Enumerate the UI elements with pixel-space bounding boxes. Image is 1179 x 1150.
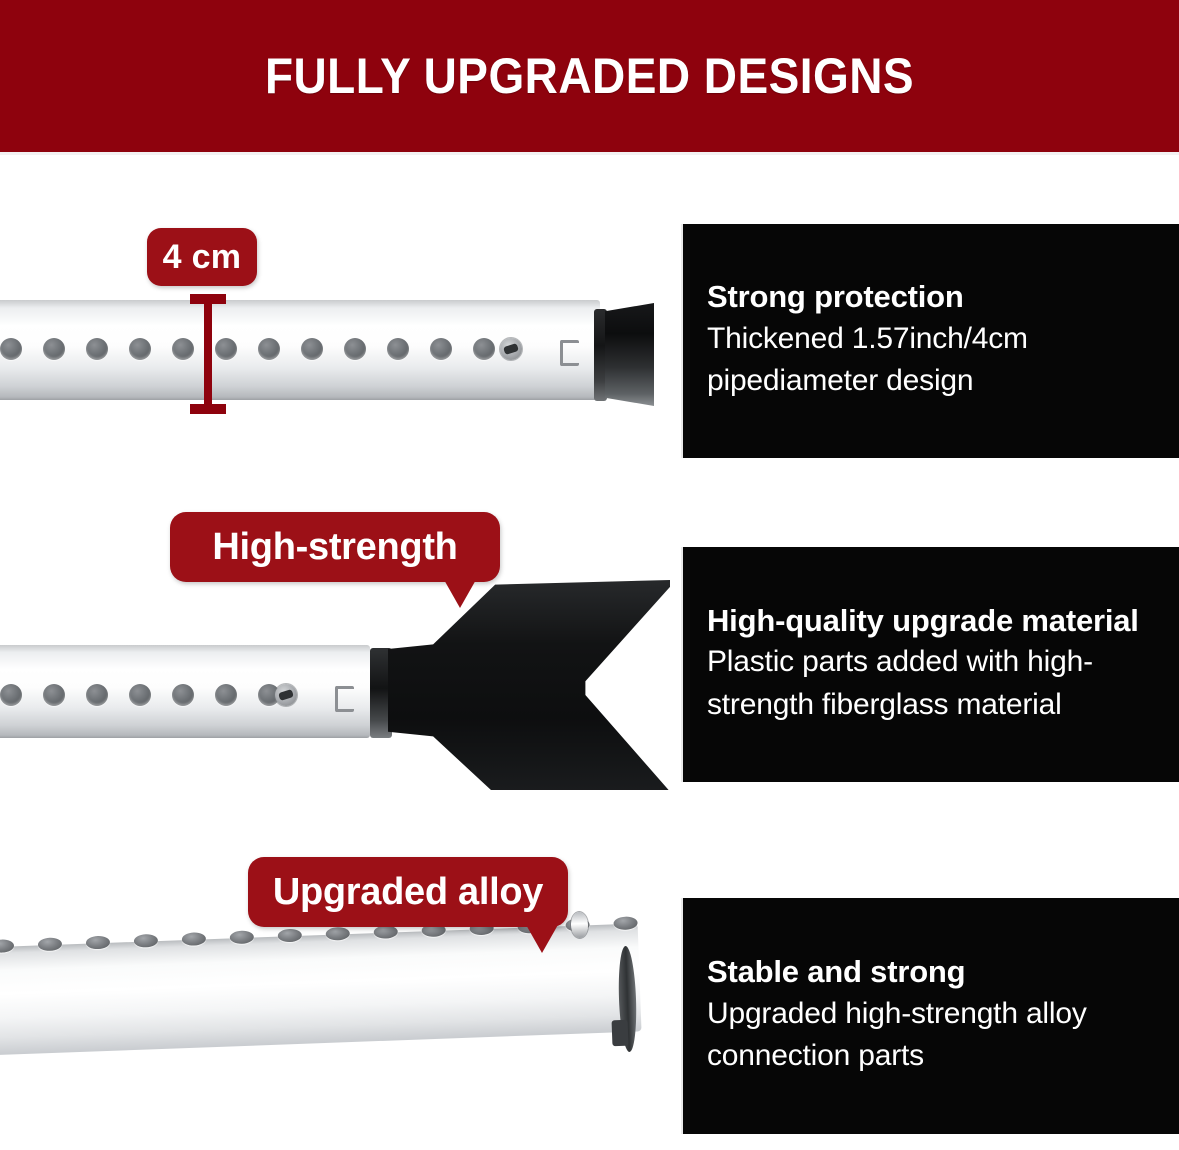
pipe-hole-icon [230, 930, 254, 944]
pipe-black-end-cap [594, 303, 654, 406]
header-divider [0, 152, 1179, 155]
pipe-hole-icon [0, 684, 22, 706]
pipe-hole-icon [215, 684, 237, 706]
pipe-hole-icon [301, 338, 323, 360]
pipe-screw-icon [500, 338, 522, 360]
pipe-hole-row [0, 684, 301, 706]
pipe-hole-icon [278, 929, 302, 943]
pipe-c-bracket-mark [335, 686, 354, 712]
pipe-hole-row [0, 338, 516, 360]
callout-badge-upgraded-alloy: Upgraded alloy [248, 857, 568, 927]
pipe-hole-icon [344, 338, 366, 360]
callout-badge-high-strength: High-strength [170, 512, 500, 582]
diameter-measurement-marker [190, 294, 226, 414]
end-cap-flare [605, 303, 654, 406]
feature-description: Upgraded high-strength alloy connection … [707, 993, 1153, 1078]
pipe-hole-icon [387, 338, 409, 360]
pipe-hole-icon [86, 338, 108, 360]
feature-panel-high-quality-material: High-quality upgrade material Plastic pa… [683, 547, 1179, 782]
pipe-forked-head [370, 580, 670, 740]
pipe-hole-icon [0, 939, 14, 953]
pipe-hole-icon [86, 684, 108, 706]
feature-title: High-quality upgrade material [707, 603, 1153, 640]
pipe-hole-icon [0, 338, 22, 360]
pipe-hole-icon [613, 916, 637, 930]
pipe-hole-icon [172, 684, 194, 706]
product-image-stable-and-strong [0, 900, 670, 1140]
pipe-hole-icon [473, 338, 495, 360]
pipe-screw-icon [275, 684, 297, 706]
feature-panel-strong-protection: Strong protection Thickened 1.57inch/4cm… [683, 224, 1179, 458]
feature-title: Stable and strong [707, 954, 1153, 991]
pipe-hole-icon [129, 338, 151, 360]
pipe-hole-icon [134, 934, 158, 948]
feature-description: Thickened 1.57inch/4cm pipediameter desi… [707, 318, 1153, 403]
callout-badge-four-cm: 4 cm [147, 228, 257, 286]
callout-pointer-upgraded-alloy [525, 923, 559, 953]
pipe-hole-icon [182, 932, 206, 946]
pipe-hole-icon [38, 937, 62, 951]
fork-prongs [388, 580, 670, 790]
callout-pointer-high-strength [443, 578, 477, 608]
product-feature-infographic: FULLY UPGRADED DESIGNS 4 cm [0, 0, 1179, 1150]
alloy-collar-tab [612, 1020, 629, 1047]
pipe-hole-icon [258, 338, 280, 360]
measurement-cap-bottom [190, 404, 226, 414]
pipe-hole-icon [86, 936, 110, 950]
measurement-stem [204, 294, 212, 414]
pipe-hole-icon [374, 925, 398, 939]
pipe-hole-icon [43, 338, 65, 360]
pipe-hole-icon [43, 684, 65, 706]
pipe-hole-icon [129, 684, 151, 706]
pipe-c-bracket-mark [560, 340, 579, 366]
pipe-hole-icon [326, 927, 350, 941]
pipe-hole-icon [430, 338, 452, 360]
feature-description: Plastic parts added with high-strength f… [707, 641, 1153, 726]
product-image-strong-protection [0, 160, 670, 460]
feature-title: Strong protection [707, 279, 1153, 316]
product-image-high-quality-material [0, 560, 670, 790]
feature-panel-stable-and-strong: Stable and strong Upgraded high-strength… [683, 898, 1179, 1134]
page-title: FULLY UPGRADED DESIGNS [47, 0, 1132, 152]
